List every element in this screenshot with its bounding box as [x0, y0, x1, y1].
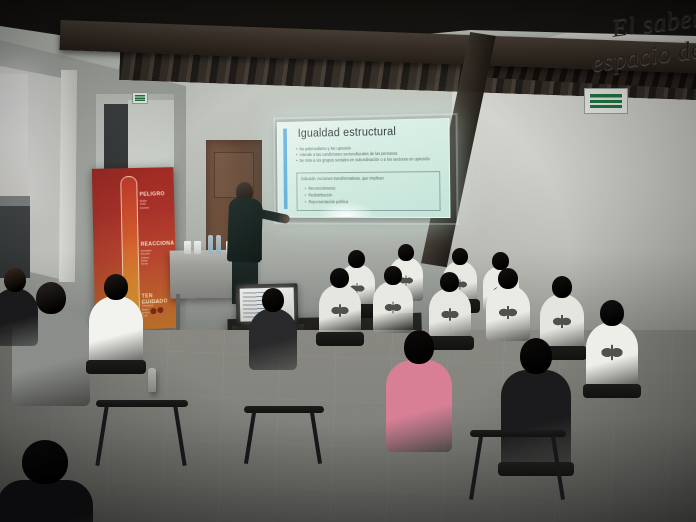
- audience-member-head: [440, 272, 459, 292]
- tshirt-butterfly-logo: [600, 345, 624, 360]
- slide-solution-box: Solución: Acciones transformativas, que …: [296, 171, 440, 211]
- banner-logo: [147, 302, 169, 319]
- audience-member-head: [36, 282, 66, 314]
- audience-member-head: [4, 268, 26, 292]
- audience-member-head: [498, 268, 518, 289]
- audience-member-head: [600, 300, 624, 326]
- slide-bullet: Se mira a los grupos sociales en subordi…: [296, 157, 440, 165]
- audience-member-head: [552, 276, 572, 298]
- audience-member-head: [398, 244, 414, 261]
- slide-accent-bar: [283, 129, 287, 210]
- chair: [316, 332, 364, 346]
- slide-sub-bullet-list: ReconocimientoRedistribuciónRepresentaci…: [305, 185, 349, 206]
- banner-section-items: MutilarViolarAsesinar: [140, 199, 174, 210]
- banner-section-label: REACCIONA: [141, 241, 175, 248]
- tshirt-butterfly-logo: [384, 301, 402, 313]
- slide-title: Igualdad estructural: [298, 126, 396, 140]
- audience-member-head: [262, 288, 284, 312]
- cup: [184, 241, 191, 254]
- banner-section-label: PELIGRO: [139, 191, 173, 198]
- water-bottle: [208, 235, 213, 254]
- photo-scene: El saber espacio de Igualdad estructural…: [0, 0, 696, 522]
- audience-member-torso: [89, 296, 143, 366]
- audience-member-head: [384, 266, 402, 285]
- chair: [498, 462, 574, 476]
- audience-member-torso: [0, 288, 38, 346]
- slide-bullet-list: No paternalismo y No opresiónAtiende a l…: [296, 144, 440, 164]
- window-sill: [0, 196, 30, 206]
- audience-member-torso: [0, 480, 93, 522]
- audience-member-head: [452, 248, 468, 265]
- window-jamb: [59, 70, 77, 282]
- tshirt-butterfly-logo: [552, 315, 572, 328]
- tshirt-butterfly-logo: [330, 305, 349, 317]
- presenter-torso: [227, 197, 263, 262]
- audience-member-head: [22, 440, 68, 484]
- audience-member-torso: [386, 360, 452, 452]
- water-bottle: [216, 235, 221, 254]
- exit-sign-icon: [584, 88, 628, 114]
- window-glass: [0, 74, 28, 200]
- audience-member-head: [520, 338, 552, 374]
- projection-screen: Igualdad estructural No paternalismo y N…: [277, 118, 451, 218]
- audience-member-head: [330, 268, 349, 288]
- audience-member-head: [104, 274, 128, 300]
- exit-glyph: [590, 94, 622, 109]
- slide-solution-lead: Solución: Acciones transformativas, que …: [301, 176, 384, 182]
- chair: [583, 384, 641, 398]
- audience-member-torso: [249, 308, 297, 370]
- audience-member-head: [348, 250, 365, 268]
- tshirt-butterfly-logo: [498, 306, 518, 319]
- exit-glyph: [135, 95, 146, 101]
- slide-sub-bullet: Representación política: [305, 198, 348, 205]
- audience-member-head: [404, 330, 434, 364]
- cup: [194, 241, 201, 254]
- exit-sign-icon: [132, 92, 148, 104]
- tshirt-butterfly-logo: [440, 309, 459, 321]
- chair: [86, 360, 146, 374]
- floor-water-bottle: [148, 368, 156, 392]
- audience-member-torso: [501, 370, 571, 468]
